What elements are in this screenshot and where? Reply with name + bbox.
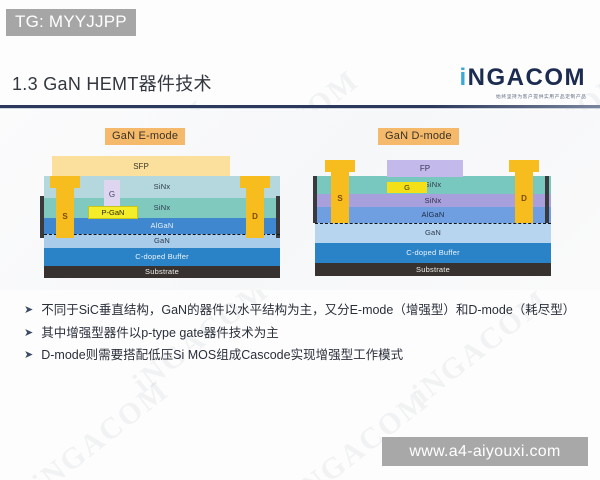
- company-logo: iNGACOM 始终坚持为客户提供实用产品定制产品: [460, 66, 587, 100]
- watermark-text: iNGACOM: [27, 374, 176, 480]
- side-contact-bar-left: [40, 196, 44, 238]
- electrode-drain-label: D: [509, 194, 539, 203]
- electrode-source-label: S: [325, 194, 355, 203]
- bullet-arrow-icon: ➤: [24, 348, 33, 363]
- electrode-source: S: [325, 160, 355, 223]
- layer-substrate: Substrate: [315, 263, 551, 276]
- electrode-drain-cap: [240, 176, 270, 188]
- bullet-item: ➤ 不同于SiC垂直结构，GaN的器件以水平结构为主，又分E-mode（增强型）…: [24, 303, 584, 319]
- side-contact-bar-left: [313, 176, 317, 223]
- layer-gan: GaN: [315, 223, 551, 243]
- bullet-item: ➤ 其中增强型器件以p-type gate器件技术为主: [24, 326, 584, 342]
- diagram-area: GaN E-mode GaN D-mode SiNx SiNx AlGaN Ga…: [0, 110, 600, 290]
- electrode-drain: D: [509, 160, 539, 223]
- layer-c-doped-buffer: C-doped Buffer: [44, 248, 280, 266]
- bullet-list: ➤ 不同于SiC垂直结构，GaN的器件以水平结构为主，又分E-mode（增强型）…: [24, 303, 584, 371]
- logo-wordmark: iNGACOM: [460, 66, 587, 90]
- footer-watermark: www.a4-aiyouxi.com: [382, 437, 588, 466]
- gate-electrode: G: [387, 182, 427, 193]
- side-contact-bar-right: [545, 176, 549, 223]
- layer-c-doped-buffer: C-doped Buffer: [315, 243, 551, 263]
- electrode-drain: D: [240, 176, 270, 238]
- header-rule-secondary: [0, 108, 600, 109]
- layer-substrate: Substrate: [44, 266, 280, 278]
- gate-stack: G: [104, 180, 120, 208]
- page-title: 1.3 GaN HEMT器件技术: [12, 70, 212, 96]
- electrode-source-cap: [325, 160, 355, 172]
- bullet-text: 不同于SiC垂直结构，GaN的器件以水平结构为主，又分E-mode（增强型）和D…: [41, 303, 575, 319]
- gate-p-gan-cap: P-GaN: [88, 206, 138, 219]
- diagram-label-d-mode: GaN D-mode: [378, 128, 459, 145]
- electrode-source: S: [50, 176, 80, 238]
- two-deg-interface-line: [315, 223, 551, 224]
- electrode-drain-cap: [509, 160, 539, 172]
- device-cross-section-e-mode: SiNx SiNx AlGaN GaN C-doped Buffer Subst…: [44, 156, 280, 276]
- logo-tagline: 始终坚持为客户提供实用产品定制产品: [466, 93, 586, 100]
- bullet-text: D-mode则需要搭配低压Si MOS组成Cascode实现增强型工作模式: [41, 348, 403, 364]
- bullet-arrow-icon: ➤: [24, 303, 33, 318]
- field-plate-sfp: SFP: [52, 156, 230, 176]
- electrode-source-label: S: [50, 212, 80, 221]
- diagram-label-e-mode: GaN E-mode: [105, 128, 185, 145]
- device-cross-section-d-mode: SiNx SiNx AlGaN GaN C-doped Buffer Subst…: [315, 156, 551, 276]
- field-plate-fp: FP: [387, 160, 463, 177]
- tg-badge: TG: MYYJJPP: [6, 9, 136, 36]
- electrode-drain-label: D: [240, 212, 270, 221]
- logo-accent-dot: i: [460, 64, 468, 91]
- bullet-text: 其中增强型器件以p-type gate器件技术为主: [41, 326, 279, 342]
- side-contact-bar-right: [276, 196, 280, 238]
- bullet-arrow-icon: ➤: [24, 326, 33, 341]
- logo-name: NGACOM: [468, 64, 586, 91]
- bullet-item: ➤ D-mode则需要搭配低压Si MOS组成Cascode实现增强型工作模式: [24, 348, 584, 364]
- electrode-source-cap: [50, 176, 80, 188]
